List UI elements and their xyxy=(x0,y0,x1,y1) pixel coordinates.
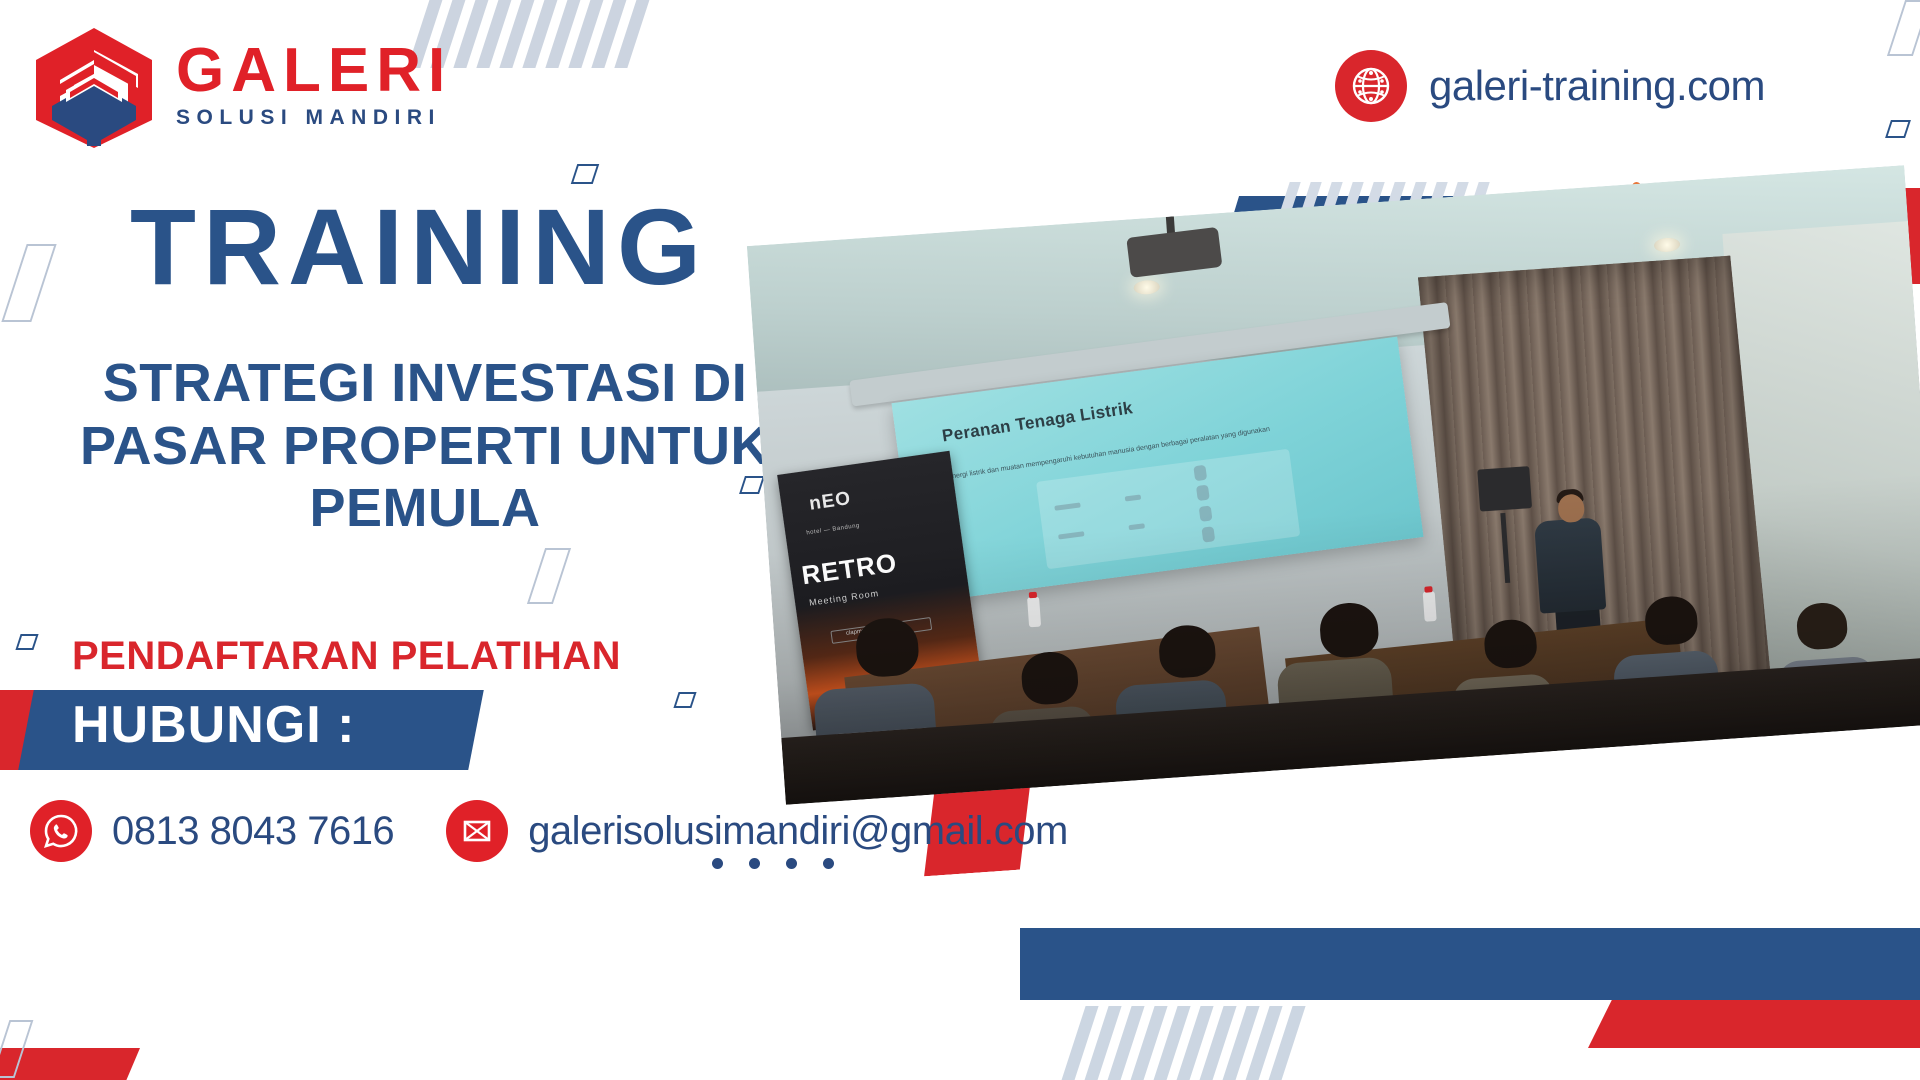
contact-email-value: galerisolusimandiri@gmail.com xyxy=(528,809,1068,854)
stripes-bottom-center xyxy=(1070,1006,1290,1080)
decor-parallelogram-reg-2 xyxy=(673,692,696,708)
page-subtitle: STRATEGI INVESTASI DI PASAR PROPERTI UNT… xyxy=(35,352,815,540)
photo-vignette xyxy=(747,165,1920,805)
decor-parallelogram-reg xyxy=(15,634,38,650)
brand-wordmark: GALERI SOLUSI MANDIRI xyxy=(176,42,452,131)
website-url-text: galeri-training.com xyxy=(1429,62,1765,110)
band-red-bottom-right xyxy=(1588,1000,1920,1048)
decor-parallelogram-title xyxy=(571,164,599,184)
registration-heading: PENDAFTARAN PELATIHAN xyxy=(72,634,621,679)
whatsapp-icon xyxy=(30,800,92,862)
contact-whatsapp[interactable]: 0813 8043 7616 xyxy=(30,800,394,862)
stripes-top-center xyxy=(420,0,640,68)
band-blue-bottom-right xyxy=(1020,928,1920,1000)
brand-name-primary: GALERI xyxy=(176,42,452,101)
contact-email[interactable]: galerisolusimandiri@gmail.com xyxy=(446,800,1068,862)
decor-parallelogram-left-1 xyxy=(1,244,56,322)
decor-parallelogram-lower xyxy=(527,548,571,604)
decor-dot-row xyxy=(712,858,834,869)
brand-logo[interactable]: GALERI SOLUSI MANDIRI xyxy=(30,22,452,150)
brand-name-secondary: SOLUSI MANDIRI xyxy=(176,106,452,130)
decor-parallelogram-topright-2 xyxy=(1887,0,1920,56)
hubungi-banner-label: HUBUNGI : xyxy=(72,695,355,755)
globe-icon xyxy=(1335,50,1407,122)
decor-parallelogram-topright xyxy=(1885,120,1911,138)
contact-list: 0813 8043 7616 galerisolusimandiri@gmail… xyxy=(30,800,1068,862)
poster-canvas: GALERI SOLUSI MANDIRI galeri-training.co… xyxy=(0,0,1920,1080)
email-icon xyxy=(446,800,508,862)
training-room-photo: Peranan Tenaga Listrik Energi listrik da… xyxy=(747,165,1920,805)
contact-whatsapp-value: 0813 8043 7616 xyxy=(112,809,394,854)
website-link[interactable]: galeri-training.com xyxy=(1335,50,1765,122)
galeri-logo-mark-icon xyxy=(30,22,158,150)
page-title: TRAINING xyxy=(130,193,708,301)
